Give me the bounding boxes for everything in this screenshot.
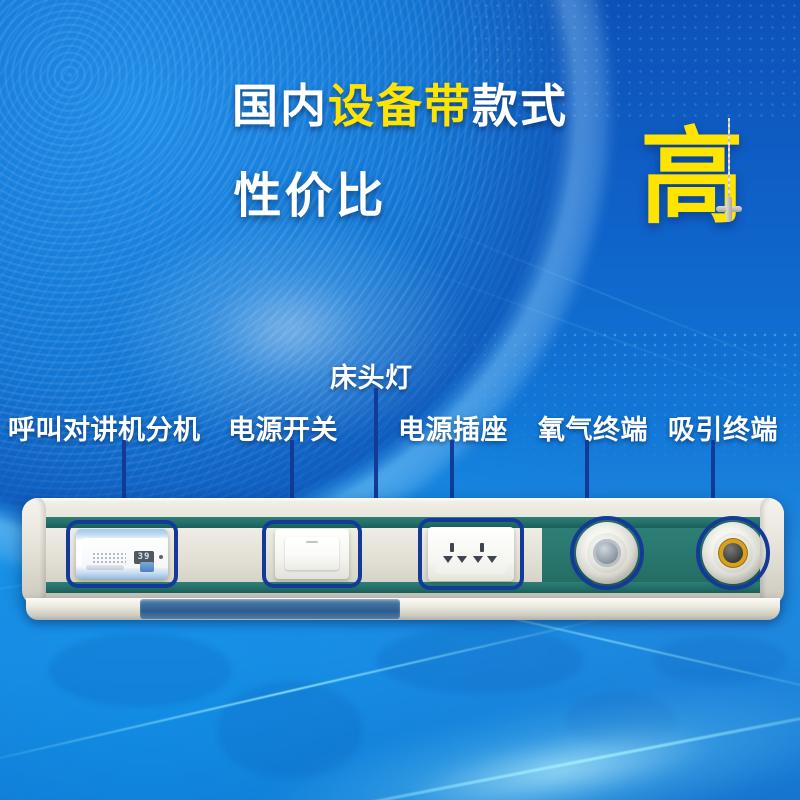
headline-part-3: 款式 [472, 80, 568, 132]
highlight-box-intercom [66, 520, 178, 588]
highlight-box-power-switch [262, 520, 362, 588]
highlight-circle-suction [696, 516, 770, 590]
headline-line-2-wrap: 性价比 高 [0, 152, 800, 244]
cord-handle-bar-vertical [726, 196, 732, 222]
headline-part-1: 国内 [232, 80, 328, 132]
promo-banner: 国内设备带款式 性价比 高 呼叫对讲机分机 电源开关 床头灯 电源插座 氧气终端… [0, 0, 800, 800]
pull-cord[interactable] [728, 118, 730, 200]
highlight-box-power-socket [418, 518, 524, 590]
panel-end-cap-left [22, 498, 46, 606]
headline-block: 国内设备带款式 性价比 高 [0, 82, 800, 244]
callout-label-suction: 吸引终端 [668, 408, 778, 447]
bed-head-unit-panel: 39 [22, 498, 784, 628]
halftone-dots [380, 330, 800, 480]
callout-label-intercom: 呼叫对讲机分机 [8, 408, 201, 447]
headline-part-2: 设备带 [328, 80, 472, 132]
bed-lamp-diffuser[interactable] [140, 599, 400, 619]
callout-label-oxygen: 氧气终端 [538, 408, 648, 447]
highlight-circle-oxygen [570, 516, 644, 590]
callout-label-bed-lamp: 床头灯 [330, 356, 413, 395]
pull-cord-handle[interactable] [716, 196, 742, 222]
callout-label-power-switch: 电源开关 [228, 408, 338, 447]
